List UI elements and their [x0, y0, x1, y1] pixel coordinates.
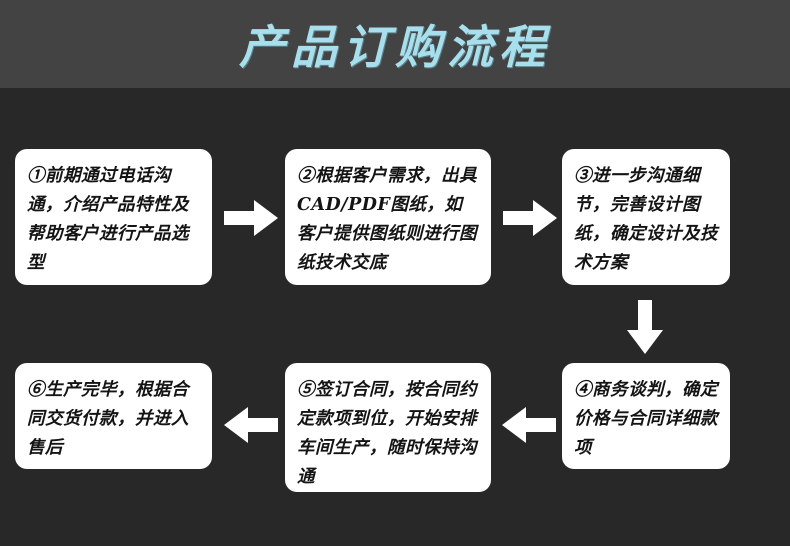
flow-step-2: ②根据客户需求，出具CAD/PDF图纸，如客户提供图纸则进行图纸技术交底	[285, 149, 491, 285]
arrow-right-icon	[503, 198, 557, 238]
flow-step-5: ⑤签订合同，按合同约定款项到位，开始安排车间生产，随时保持沟通	[285, 363, 491, 492]
flow-step-1-text: ①前期通过电话沟通，介绍产品特性及帮助客户进行产品选型	[27, 162, 201, 278]
order-process-flowchart: 产品订购流程 ①前期通过电话沟通，介绍产品特性及帮助客户进行产品选型 ②根据客户…	[0, 0, 790, 546]
flow-step-6: ⑥生产完毕，根据合同交货付款，并进入售后	[15, 363, 212, 469]
flow-step-3: ③进一步沟通细节，完善设计图纸，确定设计及技术方案	[562, 149, 730, 285]
page-title: 产品订购流程	[0, 0, 790, 88]
arrow-down-icon	[625, 300, 665, 354]
flow-step-4: ④商务谈判，确定价格与合同详细款项	[562, 363, 730, 469]
flow-step-1: ①前期通过电话沟通，介绍产品特性及帮助客户进行产品选型	[15, 149, 212, 285]
flow-step-2-text: ②根据客户需求，出具CAD/PDF图纸，如客户提供图纸则进行图纸技术交底	[297, 162, 480, 278]
flow-step-5-text: ⑤签订合同，按合同约定款项到位，开始安排车间生产，随时保持沟通	[297, 376, 480, 492]
flow-step-6-text: ⑥生产完毕，根据合同交货付款，并进入售后	[27, 376, 201, 463]
flow-step-3-text: ③进一步沟通细节，完善设计图纸，确定设计及技术方案	[574, 162, 719, 278]
flow-step-4-text: ④商务谈判，确定价格与合同详细款项	[574, 376, 719, 463]
arrow-left-icon	[502, 405, 556, 445]
arrow-left-icon	[224, 405, 278, 445]
arrow-right-icon	[224, 198, 278, 238]
